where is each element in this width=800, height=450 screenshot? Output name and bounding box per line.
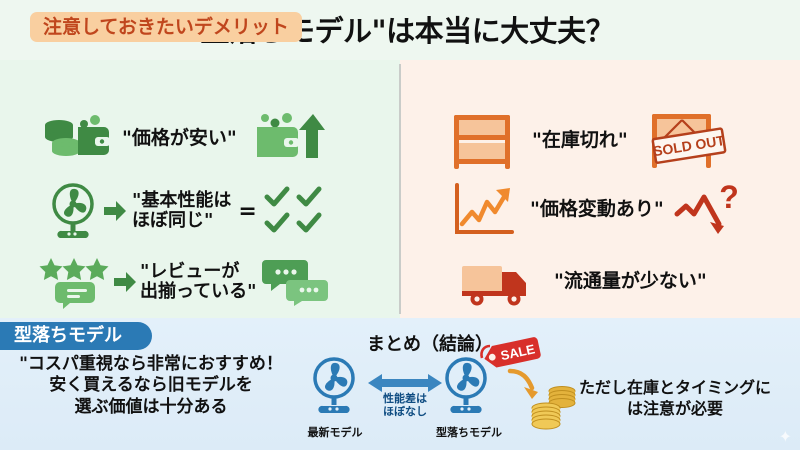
merit-row-performance-text: "基本性能は ほぼ同じ" bbox=[132, 191, 231, 231]
electric-fan-icon bbox=[48, 182, 98, 240]
coins-wallet-icon bbox=[40, 113, 110, 165]
demerit-row-pricechange-text: "価格変動あり" bbox=[530, 199, 664, 220]
check-marks-icon bbox=[264, 185, 326, 237]
infographic-canvas: "型落ちモデル"は本当に大丈夫？ 旧モデルを選ぶメリット 注意しておきたいデメリ… bbox=[0, 0, 800, 450]
equals-sign: = bbox=[238, 199, 256, 224]
double-arrow-icon bbox=[368, 372, 442, 394]
wallet-up-arrow-icon bbox=[251, 112, 325, 166]
latest-model-label: 最新モデル bbox=[300, 424, 370, 440]
chart-down-question-icon: ? bbox=[674, 182, 744, 238]
demerit-row-stock: "在庫切れ" SOLD OUT bbox=[450, 112, 800, 170]
stars-review-icon bbox=[38, 256, 110, 308]
arrow-right-icon-2 bbox=[114, 272, 136, 292]
caution-text: ただし在庫とタイミングに は注意が必要 bbox=[555, 378, 795, 420]
conclusion-banner: 型落ちモデル bbox=[0, 322, 152, 350]
merit-row-performance: "基本性能は ほぼ同じ" = bbox=[48, 182, 398, 240]
performance-diff-label: 性能差は ほぼなし bbox=[370, 392, 440, 418]
merit-row-price-text: "価格が安い" bbox=[122, 128, 237, 149]
demerit-badge: 注意しておきたいデメリット bbox=[30, 12, 302, 42]
price-chart-up-icon bbox=[452, 182, 516, 238]
delivery-truck-icon bbox=[460, 258, 538, 306]
demerit-row-pricechange: "価格変動あり" ? bbox=[452, 182, 800, 238]
sold-out-sign-icon: SOLD OUT bbox=[642, 112, 728, 170]
sale-tag-icon: SALE bbox=[478, 336, 546, 372]
latest-model-fan-icon bbox=[308, 356, 360, 416]
empty-shelf-icon bbox=[450, 113, 516, 169]
conclusion-text: "コスパ重視なら非常におすすめ！ 安く買えるなら旧モデルを 選ぶ価値は十分ある bbox=[6, 354, 296, 418]
panel-divider bbox=[399, 64, 401, 314]
merit-row-price: "価格が安い" bbox=[40, 112, 390, 166]
question-mark: ? bbox=[719, 179, 739, 215]
old-model-label: 型落ちモデル bbox=[432, 424, 506, 440]
arrow-right-icon bbox=[104, 201, 126, 221]
chat-bubbles-icon bbox=[264, 258, 328, 306]
merit-row-review-text: "レビューが 出揃っている" bbox=[140, 262, 256, 302]
demerit-row-supply: "流通量が少ない" bbox=[460, 258, 800, 306]
demerit-row-stock-text: "在庫切れ" bbox=[532, 130, 628, 151]
demerit-row-supply-text: "流通量が少ない" bbox=[554, 271, 707, 292]
merit-row-review: "レビューが 出揃っている" bbox=[38, 256, 398, 308]
watermark-icon: ✦ bbox=[779, 427, 792, 446]
